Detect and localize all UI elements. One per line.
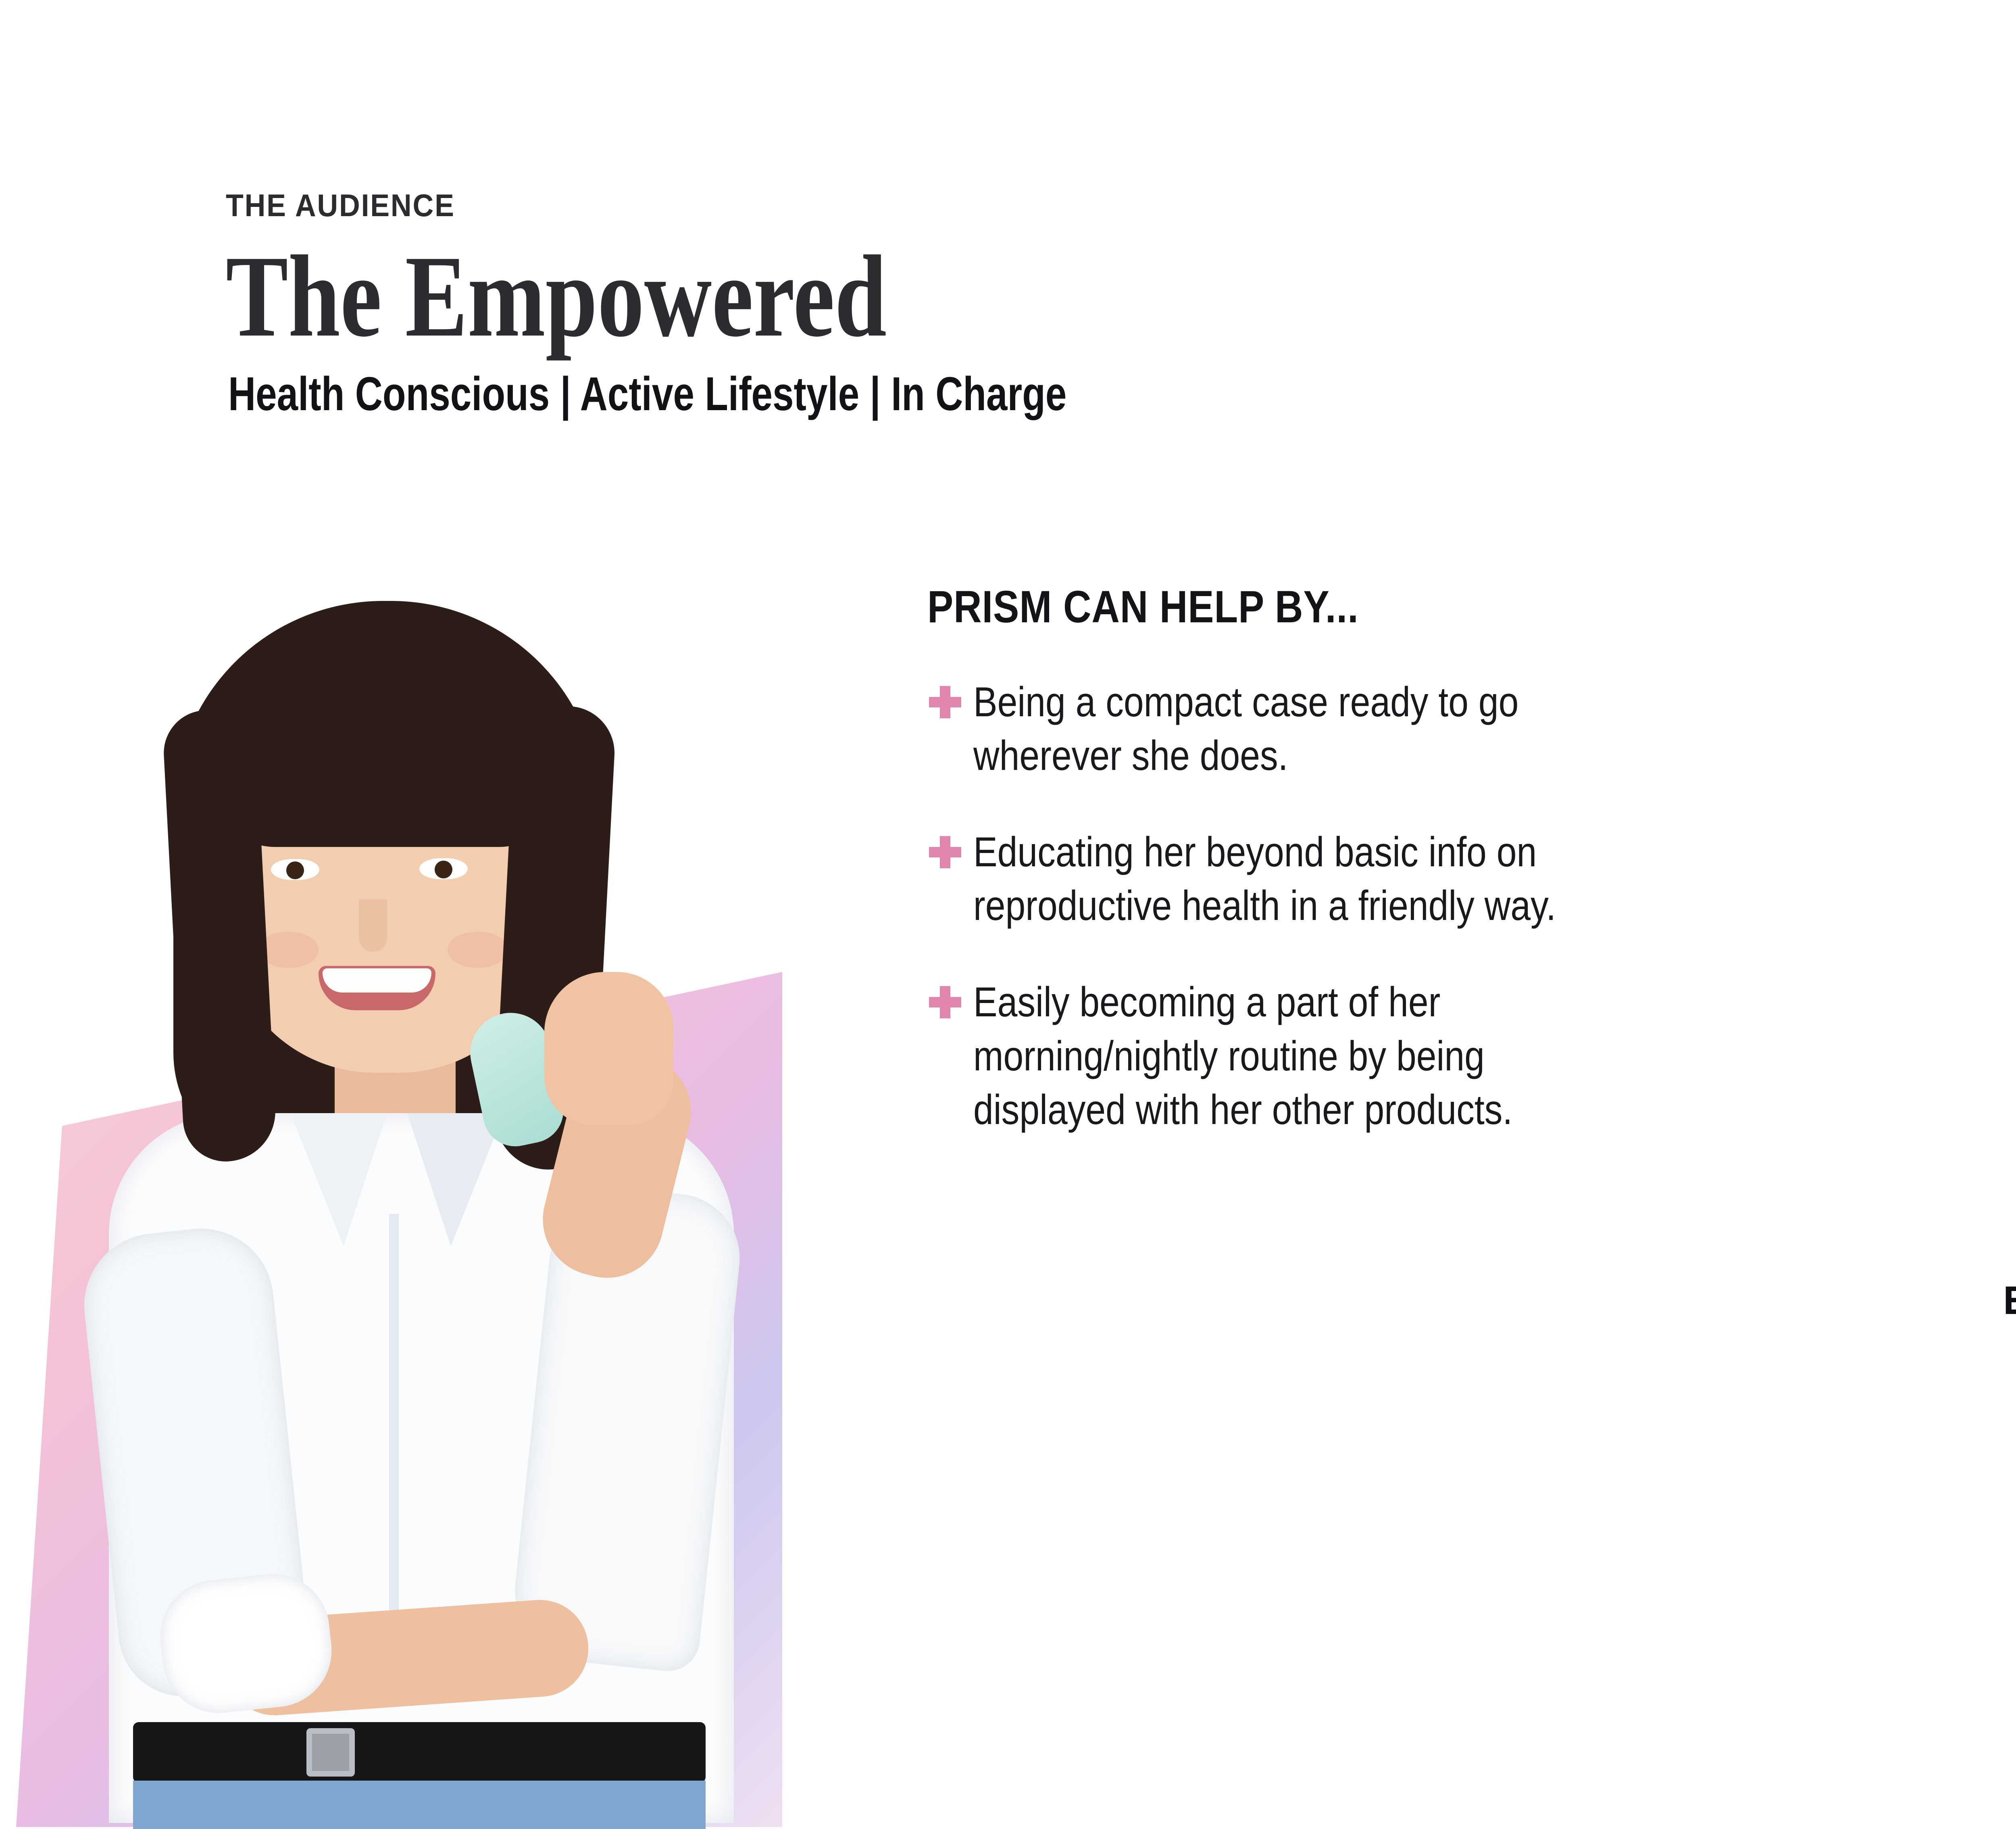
hand-holding-device <box>544 972 673 1125</box>
list-item-text: Easily becoming a part of her morning/ni… <box>973 976 1512 1137</box>
slide-canvas: THE AUDIENCE The Empowered Health Consci… <box>0 0 2016 1815</box>
belt <box>133 1722 706 1783</box>
teeth <box>323 968 431 993</box>
plus-icon <box>927 834 963 870</box>
plus-icon <box>927 684 963 720</box>
woman-figure <box>0 577 831 1815</box>
eye-right <box>419 858 468 879</box>
subtitle-traits: Health Conscious | Active Lifestyle | In… <box>228 370 1066 418</box>
help-by-block: PRISM CAN HELP BY... Being a compact cas… <box>927 581 1976 1137</box>
radar-chart: Communication Empathy Ergonomics <box>1927 557 2016 1355</box>
radar-chart-svg: Communication Empathy Ergonomics <box>1927 557 2016 1355</box>
smiling-mouth <box>319 966 435 1010</box>
list-item-text: Educating her beyond basic info on repro… <box>973 826 1556 933</box>
list-item: Educating her beyond basic info on repro… <box>927 826 1976 933</box>
cheek-right <box>448 932 508 968</box>
jeans <box>133 1781 706 1829</box>
nose <box>359 899 387 952</box>
belt-buckle <box>306 1728 355 1777</box>
plus-icon <box>927 984 963 1020</box>
eyebrow-label: THE AUDIENCE <box>226 190 1192 221</box>
persona-photo <box>0 577 831 1815</box>
list-item: Easily becoming a part of her morning/ni… <box>927 976 1976 1137</box>
list-item: Being a compact case ready to go whereve… <box>927 676 1976 783</box>
page-title: The Empowered <box>226 238 1066 355</box>
pupil-left <box>286 861 304 879</box>
axis-label-empathy: Empathy <box>2003 1278 2016 1322</box>
header-block: THE AUDIENCE The Empowered Health Consci… <box>226 190 1276 418</box>
section-heading: PRISM CAN HELP BY... <box>927 581 1829 633</box>
eye-left <box>271 859 319 880</box>
list-item-text: Being a compact case ready to go whereve… <box>973 676 1518 783</box>
pupil-right <box>435 861 452 878</box>
